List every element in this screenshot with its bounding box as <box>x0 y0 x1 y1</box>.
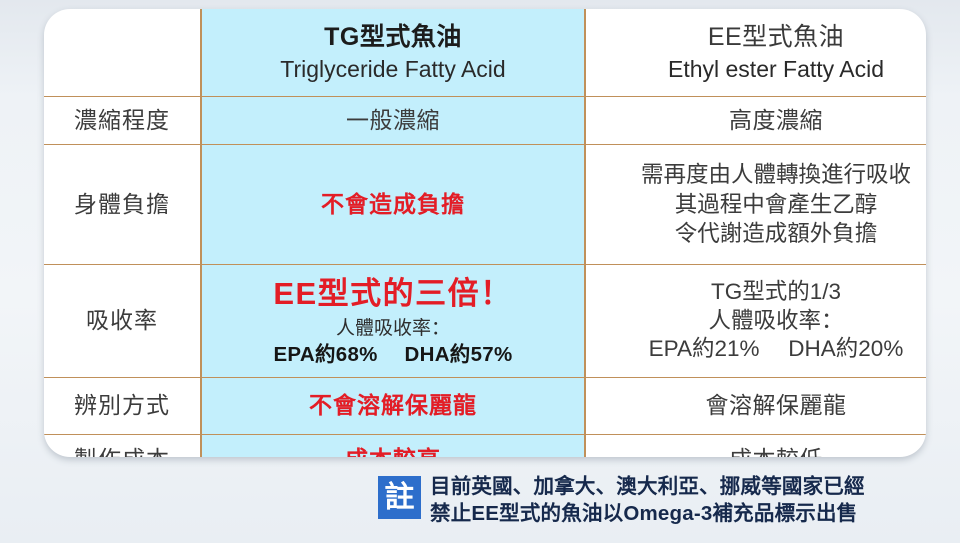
header-ee-chinese: EE型式魚油 <box>592 21 926 53</box>
cell-value-highlight: 不會溶解保麗龍 <box>309 392 477 418</box>
cell-value-line-3: EPA約21% DHA約20% <box>592 335 926 364</box>
cell-ee-absorption-rate: TG型式的1/3 人體吸收率： EPA約21% DHA約20% <box>585 265 926 378</box>
table-header-row: TG型式魚油 Triglyceride Fatty Acid EE型式魚油 Et… <box>44 9 926 97</box>
cell-value-line-2: 其過程中會產生乙醇 <box>592 190 926 220</box>
header-tg-english: Triglyceride Fatty Acid <box>208 55 578 84</box>
row-label-production-cost: 製作成本 <box>44 435 201 458</box>
cell-subtitle: 人體吸收率： <box>208 317 578 341</box>
header-cell-tg: TG型式魚油 Triglyceride Fatty Acid <box>201 9 585 97</box>
cell-value: 一般濃縮 <box>346 107 440 133</box>
table-row-identification: 辨別方式 不會溶解保麗龍 會溶解保麗龍 <box>44 378 926 435</box>
row-label-absorption-rate: 吸收率 <box>44 265 201 378</box>
cell-tg-body-burden: 不會造成負擔 <box>201 145 585 265</box>
cell-tg-identification: 不會溶解保麗龍 <box>201 378 585 435</box>
cell-value-highlight: 不會造成負擔 <box>321 191 465 217</box>
table-row-body-burden: 身體負擔 不會造成負擔 需再度由人體轉換進行吸收 其過程中會產生乙醇 令代謝造成… <box>44 145 926 265</box>
row-label-text: 辨別方式 <box>74 392 170 418</box>
cell-ee-body-burden: 需再度由人體轉換進行吸收 其過程中會產生乙醇 令代謝造成額外負擔 <box>585 145 926 265</box>
cell-tg-absorption-rate: EE型式的三倍！ 人體吸收率： EPA約68% DHA約57% <box>201 265 585 378</box>
header-ee-english: Ethyl ester Fatty Acid <box>592 55 926 84</box>
comparison-table: TG型式魚油 Triglyceride Fatty Acid EE型式魚油 Et… <box>44 9 926 457</box>
cell-ee-concentration: 高度濃縮 <box>585 97 926 145</box>
row-label-text: 濃縮程度 <box>74 107 170 133</box>
row-label-text: 吸收率 <box>86 307 158 333</box>
footnote: 註 目前英國、加拿大、澳大利亞、挪威等國家已經 禁止EE型式的魚油以Omega-… <box>378 473 865 528</box>
cell-value-line-3: 令代謝造成額外負擔 <box>592 219 926 249</box>
table-row-production-cost: 製作成本 成本較高 成本較低 <box>44 435 926 458</box>
header-tg-chinese: TG型式魚油 <box>208 21 578 53</box>
table-row-concentration: 濃縮程度 一般濃縮 高度濃縮 <box>44 97 926 145</box>
table-row-absorption-rate: 吸收率 EE型式的三倍！ 人體吸收率： EPA約68% DHA約57% TG型式… <box>44 265 926 378</box>
comparison-table-card: TG型式魚油 Triglyceride Fatty Acid EE型式魚油 Et… <box>44 9 926 457</box>
header-cell-ee: EE型式魚油 Ethyl ester Fatty Acid <box>585 9 926 97</box>
cell-value-line-1: 需再度由人體轉換進行吸收 <box>592 160 926 190</box>
cell-value-line-2: 人體吸收率： <box>592 307 926 336</box>
cell-value-line-1: TG型式的1/3 <box>592 278 926 307</box>
footnote-line-2: 禁止EE型式的魚油以Omega-3補充品標示出售 <box>430 500 865 527</box>
row-label-identification: 辨別方式 <box>44 378 201 435</box>
cell-headline-highlight: EE型式的三倍！ <box>208 274 578 314</box>
note-badge: 註 <box>378 476 421 519</box>
cell-values: EPA約68% DHA約57% <box>208 342 578 368</box>
row-label-concentration: 濃縮程度 <box>44 97 201 145</box>
cell-value-highlight: 成本較高 <box>345 446 441 457</box>
row-label-text: 身體負擔 <box>74 191 170 217</box>
cell-tg-production-cost: 成本較高 <box>201 435 585 458</box>
cell-ee-production-cost: 成本較低 <box>585 435 926 458</box>
cell-value: 會溶解保麗龍 <box>706 392 847 418</box>
cell-value: 高度濃縮 <box>729 107 823 133</box>
row-label-body-burden: 身體負擔 <box>44 145 201 265</box>
cell-tg-concentration: 一般濃縮 <box>201 97 585 145</box>
cell-value: 成本較低 <box>729 446 823 457</box>
footnote-text: 目前英國、加拿大、澳大利亞、挪威等國家已經 禁止EE型式的魚油以Omega-3補… <box>430 473 865 528</box>
row-label-text: 製作成本 <box>74 446 170 457</box>
header-cell-blank <box>44 9 201 97</box>
footnote-line-1: 目前英國、加拿大、澳大利亞、挪威等國家已經 <box>430 473 865 500</box>
cell-ee-identification: 會溶解保麗龍 <box>585 378 926 435</box>
